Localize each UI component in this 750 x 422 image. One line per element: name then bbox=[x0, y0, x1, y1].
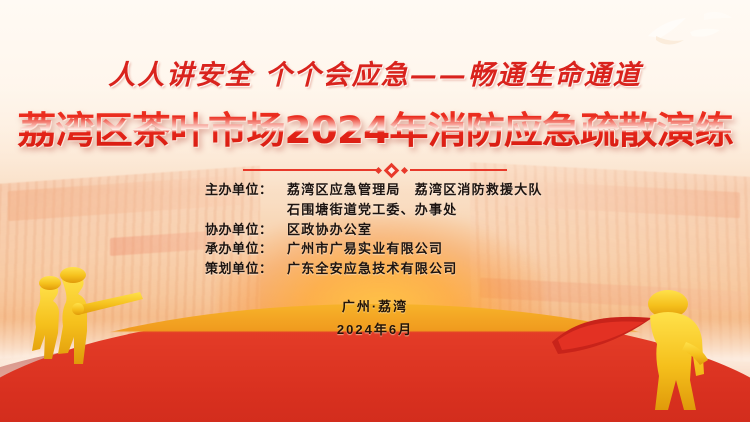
organizer-value: 广州市广易实业有限公司 bbox=[287, 239, 443, 259]
poster-footer: 广州·荔湾 2024年6月 bbox=[0, 296, 750, 342]
organizer-row: 策划单位： 广东全安应急技术有限公司 bbox=[0, 259, 750, 279]
ground-shadow bbox=[0, 337, 580, 422]
poster-subtitle: 人人讲安全 个个会应急——畅通生命通道 bbox=[0, 53, 750, 92]
divider-ornament bbox=[0, 163, 750, 177]
poster-canvas: 人人讲安全 个个会应急——畅通生命通道 荔湾区茶叶市场2024年消防应急疏散演练… bbox=[0, 0, 750, 422]
organizer-label: 协办单位： bbox=[205, 220, 287, 240]
organizer-row: 主办单位： 荔湾区应急管理局 荔湾区消防救援大队 bbox=[0, 180, 750, 200]
organizer-value: 荔湾区应急管理局 荔湾区消防救援大队 bbox=[287, 180, 543, 200]
organizer-row: 承办单位： 广州市广易实业有限公司 bbox=[0, 239, 750, 259]
organizer-list: 主办单位： 荔湾区应急管理局 荔湾区消防救援大队 主办单位： 石围塘街道党工委、… bbox=[0, 180, 750, 279]
divider-rule-left bbox=[243, 169, 378, 171]
doves-icon bbox=[620, 6, 738, 60]
organizer-value: 区政协办公室 bbox=[287, 220, 372, 240]
divider-rule-right bbox=[410, 169, 507, 171]
organizer-label: 策划单位： bbox=[205, 259, 287, 279]
organizer-value: 石围塘街道党工委、办事处 bbox=[287, 200, 457, 220]
organizer-row: 主办单位： 石围塘街道党工委、办事处 bbox=[0, 200, 750, 220]
footer-location: 广州·荔湾 bbox=[0, 296, 750, 319]
divider-diamond-small-right bbox=[401, 167, 408, 174]
organizer-row: 协办单位： 区政协办公室 bbox=[0, 220, 750, 240]
footer-date: 2024年6月 bbox=[0, 319, 750, 342]
divider-diamond-small-left bbox=[375, 167, 382, 174]
organizer-value: 广东全安应急技术有限公司 bbox=[287, 259, 457, 279]
organizer-label: 主办单位： bbox=[205, 180, 287, 200]
poster-headline: 荔湾区茶叶市场2024年消防应急疏散演练 bbox=[0, 100, 750, 154]
organizer-label: 承办单位： bbox=[205, 239, 287, 259]
top-cream-veil bbox=[0, 0, 750, 190]
